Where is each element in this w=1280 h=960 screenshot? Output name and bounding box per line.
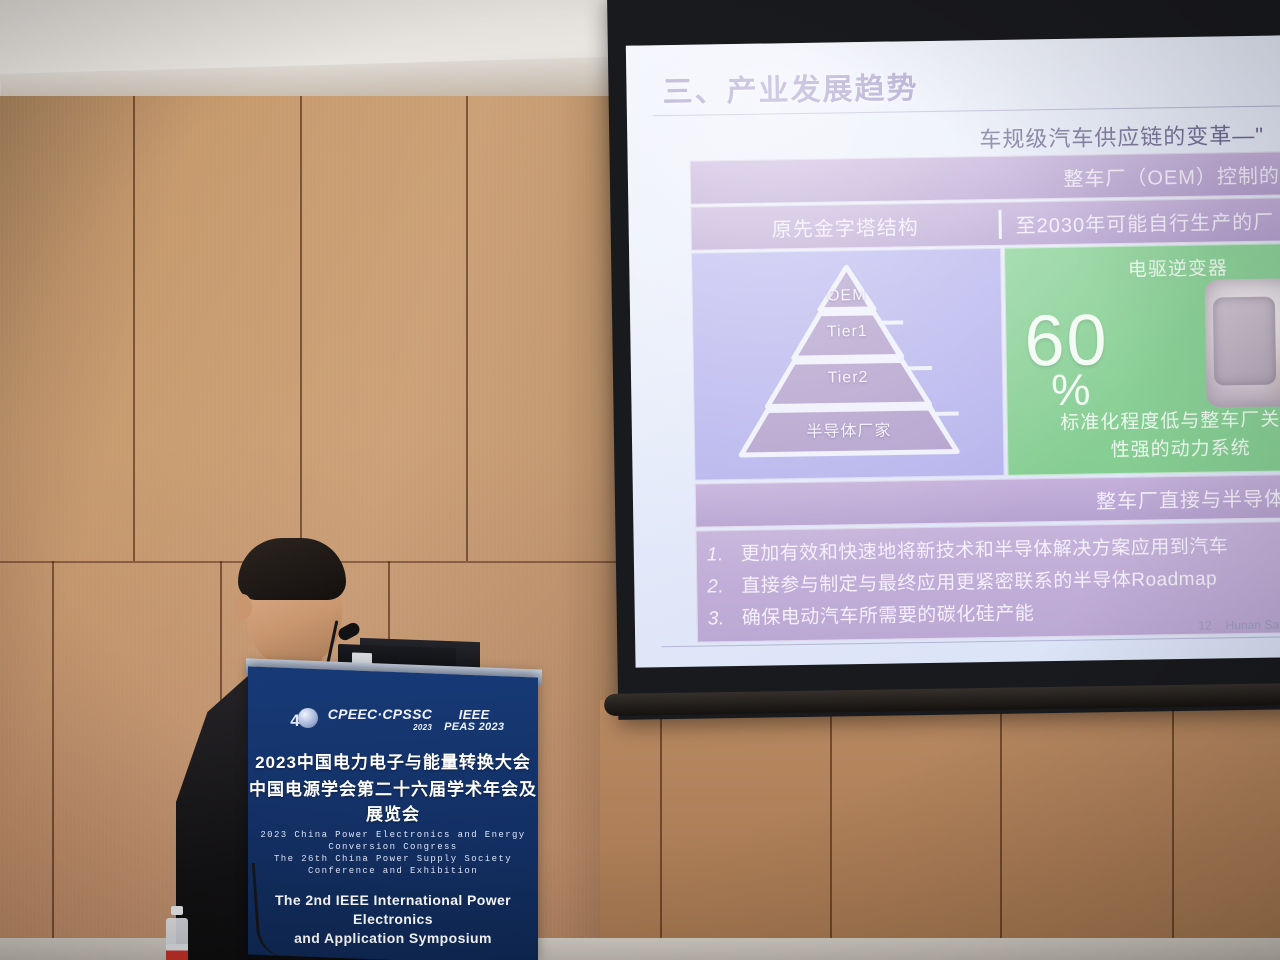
bottle-label — [166, 944, 188, 960]
banner-english-large: The 2nd IEEE International Power Electro… — [248, 891, 538, 948]
slide-organization: Hunan Sanan Sem — [1225, 617, 1280, 633]
pyramid-level-oem: OEM — [727, 285, 967, 307]
inverter-photo — [1205, 277, 1280, 408]
presentation-slide: 三、产业发展趋势 车规级汽车供应链的变革—" 整车厂（OEM）控制的供应价 原先… — [626, 35, 1280, 668]
pyramid-level-tier2: Tier2 — [728, 367, 968, 389]
inverter-note-line2: 性强的动力系统 — [1008, 433, 1280, 466]
band-direct-engagement: 整车厂直接与半导体厂家对 — [695, 473, 1280, 527]
column-headers: 原先金字塔结构 至2030年可能自行生产的厂 — [690, 196, 1280, 250]
peas-text: PEAS 2023 — [444, 721, 504, 734]
globe-icon — [298, 708, 318, 728]
slide-subtitle: 车规级汽车供应链的变革—" — [979, 118, 1264, 154]
ear — [234, 594, 252, 620]
slide-footer: 12 Hunan Sanan Sem — [1198, 617, 1280, 633]
wall-seam — [830, 700, 832, 960]
numbered-list-items: 1. 更加有效和快速地将新技术和半导体解决方案应用到汽车 2. 直接参与制定与最… — [707, 529, 1280, 635]
band-bottom-text: 整车厂直接与半导体厂家对 — [1096, 481, 1280, 514]
banner-english-small-line1: 2023 China Power Electronics and Energy … — [248, 829, 538, 853]
banner-english-large-line1: The 2nd IEEE International Power Electro… — [248, 891, 538, 929]
slide-title: 三、产业发展趋势 — [662, 63, 919, 111]
water-bottle — [166, 906, 188, 960]
pyramid-level-tier1: Tier1 — [727, 321, 967, 343]
inverter-percent-unit: % — [1051, 365, 1091, 416]
hair — [238, 538, 346, 600]
banner-logo-row: 40 CPEEC·CPSSC 2023 IEEE PEAS 2023 — [248, 706, 538, 736]
list-item-number: 1. — [707, 539, 741, 572]
inverter-note: 标准化程度低与整车厂关联 性强的动力系统 — [1008, 405, 1280, 466]
pyramid-level-semiconductor: 半导体厂家 — [729, 415, 969, 443]
list-item-text: 确保电动汽车所需要的碳化硅产能 — [742, 598, 1035, 635]
pyramid-diagram: OEM Tier1 Tier2 半导体厂家 — [726, 259, 969, 463]
cpeec-cpssc-year: 2023 — [328, 721, 432, 734]
wall-seam — [52, 561, 54, 960]
wall-seam — [466, 96, 468, 561]
pyramid-pane: OEM Tier1 Tier2 半导体厂家 — [691, 248, 1005, 481]
banner-english-large-line2: and Application Symposium — [248, 929, 538, 948]
banner-chinese-line2: 中国电源学会第二十六届学术年会及展览会 — [248, 775, 538, 825]
bottle-cap — [171, 906, 183, 915]
ieee-peas-logo: IEEE PEAS 2023 — [444, 708, 504, 734]
projection-screen: 三、产业发展趋势 车规级汽车供应链的变革—" 整车厂（OEM）控制的供应价 原先… — [607, 0, 1280, 720]
anniversary-40-icon: 40 — [282, 706, 316, 736]
ieee-text: IEEE — [459, 707, 490, 722]
wall-seam — [133, 96, 135, 561]
band-oem-supply-chain: 整车厂（OEM）控制的供应价 — [690, 150, 1280, 204]
banner-chinese-line1: 2023中国电力电子与能量转换大会 — [248, 748, 538, 773]
inverter-pane: 电驱逆变器 60 % 标准化程度低与整车厂关联 性强的动力系统 — [1004, 242, 1280, 475]
wall-below-screen — [600, 700, 1280, 960]
cpeec-cpssc-text: CPEEC·CPSSC — [328, 706, 432, 722]
wall-seam — [300, 96, 302, 561]
cpeec-cpssc-logo: CPEEC·CPSSC 2023 — [328, 708, 432, 734]
banner-english-small-line2: The 26th China Power Supply Society Conf… — [248, 853, 538, 877]
numbered-list: 1. 更加有效和快速地将新技术和半导体解决方案应用到汽车 2. 直接参与制定与最… — [695, 520, 1280, 642]
slide-page-number: 12 — [1198, 619, 1212, 633]
band-top-text: 整车厂（OEM）控制的供应价 — [1063, 158, 1280, 191]
wall-seam — [660, 700, 662, 960]
slide-table: 整车厂（OEM）控制的供应价 原先金字塔结构 至2030年可能自行生产的厂 — [690, 150, 1280, 642]
list-item-number: 3. — [708, 603, 742, 636]
col-left-header: 原先金字塔结构 — [691, 209, 1001, 243]
inverter-note-line1: 标准化程度低与整车厂关联 — [1008, 405, 1280, 438]
wall-seam — [1172, 700, 1174, 960]
banner-english-small: 2023 China Power Electronics and Energy … — [248, 829, 538, 877]
content-panes: OEM Tier1 Tier2 半导体厂家 电驱逆变器 60 % 标准化程度低与… — [691, 242, 1280, 480]
podium: 40 CPEEC·CPSSC 2023 IEEE PEAS 2023 2023中… — [248, 666, 538, 960]
list-item-number: 2. — [707, 571, 741, 604]
wall-seam — [1000, 700, 1002, 960]
podium-banner: 40 CPEEC·CPSSC 2023 IEEE PEAS 2023 2023中… — [248, 672, 538, 960]
col-right-header: 至2030年可能自行生产的厂 — [1001, 204, 1280, 238]
conference-room-scene: 三、产业发展趋势 车规级汽车供应链的变革—" 整车厂（OEM）控制的供应价 原先… — [0, 0, 1280, 960]
